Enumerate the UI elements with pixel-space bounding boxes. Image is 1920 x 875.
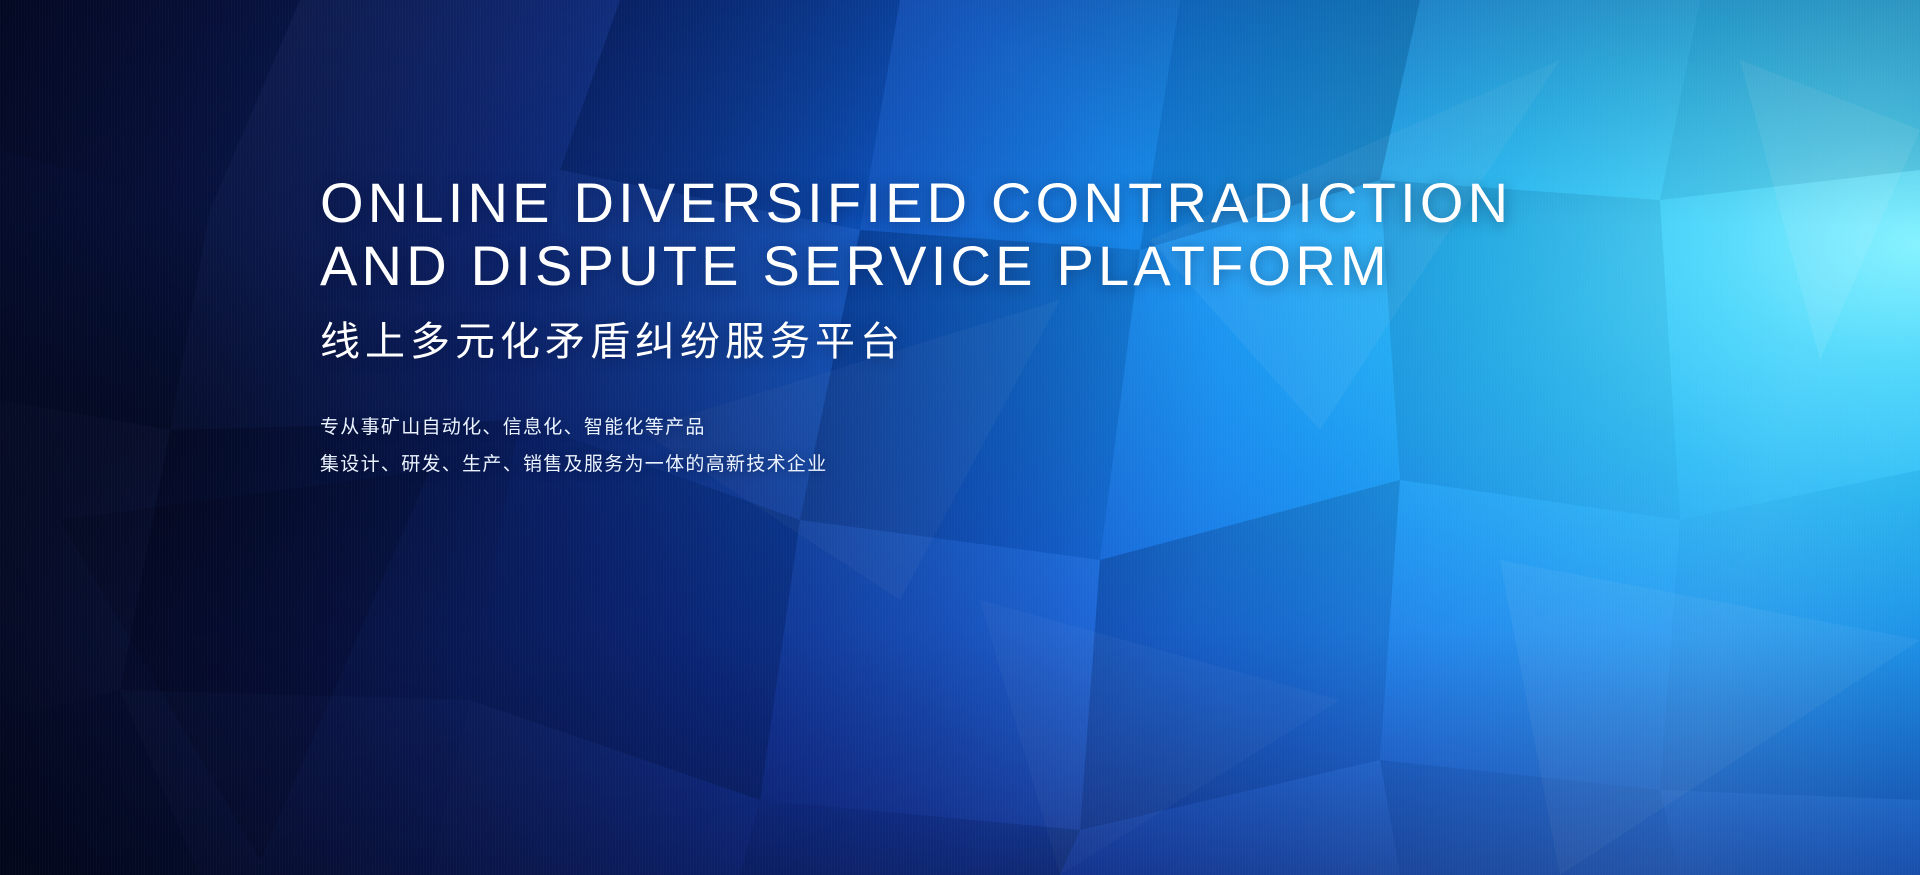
banner-title-english: ONLINE DIVERSIFIED CONTRADICTION AND DIS… — [320, 172, 1620, 297]
hero-banner: ONLINE DIVERSIFIED CONTRADICTION AND DIS… — [0, 0, 1920, 875]
banner-title-english-line-2: AND DISPUTE SERVICE PLATFORM — [320, 235, 1620, 298]
banner-description-line-2: 集设计、研发、生产、销售及服务为一体的高新技术企业 — [320, 446, 1620, 483]
banner-title-english-line-1: ONLINE DIVERSIFIED CONTRADICTION — [320, 171, 1512, 234]
hero-content: ONLINE DIVERSIFIED CONTRADICTION AND DIS… — [320, 172, 1620, 484]
banner-title-chinese: 线上多元化矛盾纠纷服务平台 — [320, 317, 1620, 367]
banner-description: 专从事矿山自动化、信息化、智能化等产品 集设计、研发、生产、销售及服务为一体的高… — [320, 409, 1620, 483]
banner-description-line-1: 专从事矿山自动化、信息化、智能化等产品 — [320, 409, 1620, 446]
